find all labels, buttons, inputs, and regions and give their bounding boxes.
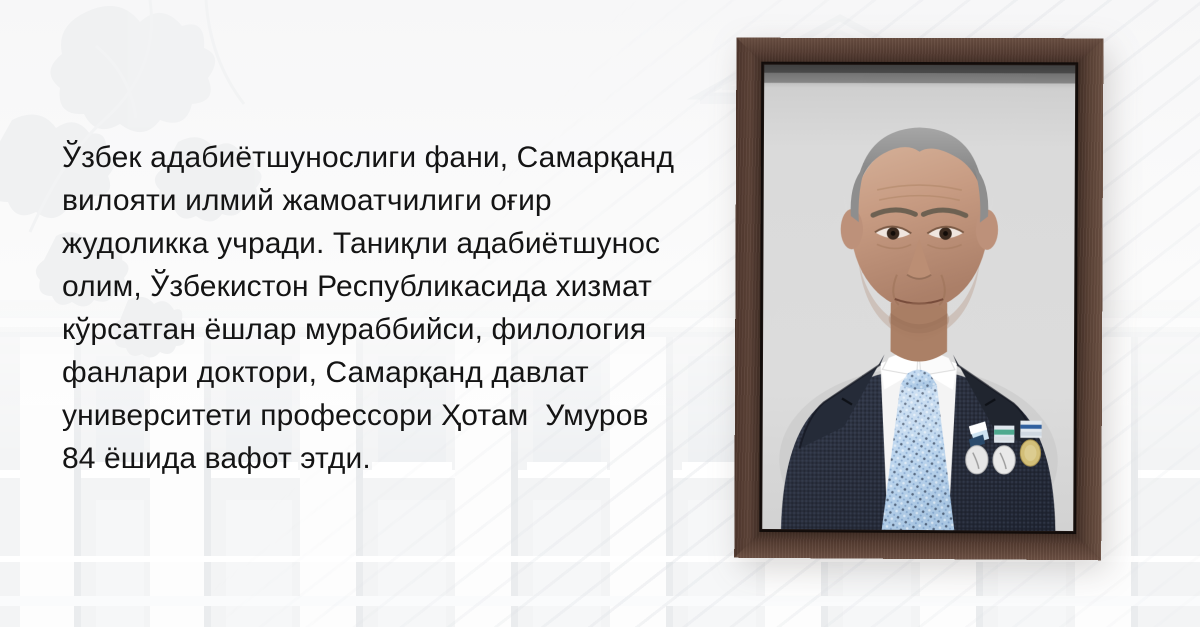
framed-portrait <box>735 38 1102 559</box>
announcement-line: вилояти илмий жамоатчилиги оғир <box>62 179 722 222</box>
medal-group <box>966 420 1042 474</box>
portrait-photo <box>762 65 1075 531</box>
frame-inner-mat <box>759 62 1078 534</box>
announcement-text: Ўзбек адабиётшунослиги фани, Самарқанд в… <box>62 136 722 480</box>
announcement-line: университети профессори Ҳотам Умуров <box>62 394 722 437</box>
wooden-picture-frame <box>734 38 1103 561</box>
announcement-line: фанлари доктори, Самарқанд давлат <box>62 351 722 394</box>
memorial-announcement-slide: Ўзбек адабиётшунослиги фани, Самарқанд в… <box>0 0 1200 627</box>
announcement-line: жудоликка учради. Таниқли адабиётшунос <box>62 222 722 265</box>
announcement-line: 84 ёшида вафот этди. <box>62 437 722 480</box>
announcement-line: кўрсатган ёшлар мураббийси, филология <box>62 308 722 351</box>
medal-2 <box>993 426 1015 475</box>
announcement-line: Ўзбек адабиётшунослиги фани, Самарқанд <box>62 136 722 179</box>
announcement-line: олим, Ўзбекистон Республикасида хизмат <box>62 265 722 308</box>
frame-rail-bottom <box>734 530 1101 561</box>
